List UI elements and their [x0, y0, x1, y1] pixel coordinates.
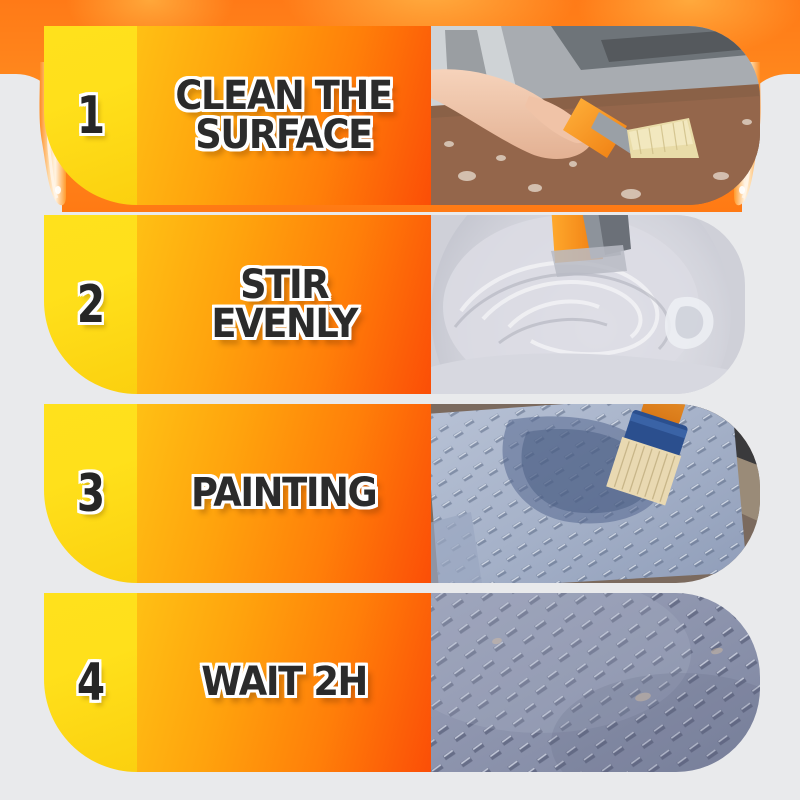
- step-title-line: STIR: [211, 266, 357, 304]
- step-number-panel: 3: [44, 404, 137, 583]
- photo-hand-brushing-dusty-concrete-step: [431, 26, 760, 205]
- step-title-line: WAIT 2H: [201, 663, 367, 701]
- step-title-panel: STIR EVENLY: [137, 215, 431, 394]
- photo-brush-stirring-grey-paint: [431, 215, 745, 394]
- step-row-4[interactable]: 4 WAIT 2H: [44, 593, 760, 772]
- step-title-line: SURFACE: [176, 116, 392, 154]
- photo-dried-painted-diamond-plate: [431, 593, 760, 772]
- step-number: 3: [77, 468, 104, 520]
- step-title-line: EVENLY: [211, 305, 357, 343]
- step-row-2[interactable]: 2 STIR EVENLY: [44, 215, 760, 394]
- step-number: 2: [77, 279, 104, 331]
- infographic-canvas: 1 CLEAN THE SURFACE: [0, 0, 800, 800]
- step-title-panel: WAIT 2H: [137, 593, 431, 772]
- step-title: WAIT 2H: [197, 663, 370, 701]
- step-number: 4: [77, 657, 104, 709]
- step-number-panel: 1: [44, 26, 137, 205]
- step-title-panel: PAINTING: [137, 404, 431, 583]
- step-number-panel: 4: [44, 593, 137, 772]
- step-title: PAINTING: [188, 474, 381, 512]
- step-number-panel: 2: [44, 215, 137, 394]
- step-row-3[interactable]: 3 PAINTING: [44, 404, 760, 583]
- step-row-1[interactable]: 1 CLEAN THE SURFACE: [44, 26, 760, 205]
- step-title: CLEAN THE SURFACE: [172, 77, 396, 154]
- step-title: STIR EVENLY: [207, 266, 360, 343]
- step-title-line: PAINTING: [191, 474, 376, 512]
- photo-brush-painting-metal-diamond-plate: [431, 404, 760, 583]
- step-title-line: CLEAN THE: [176, 77, 392, 115]
- step-number: 1: [77, 90, 104, 142]
- step-title-panel: CLEAN THE SURFACE: [137, 26, 431, 205]
